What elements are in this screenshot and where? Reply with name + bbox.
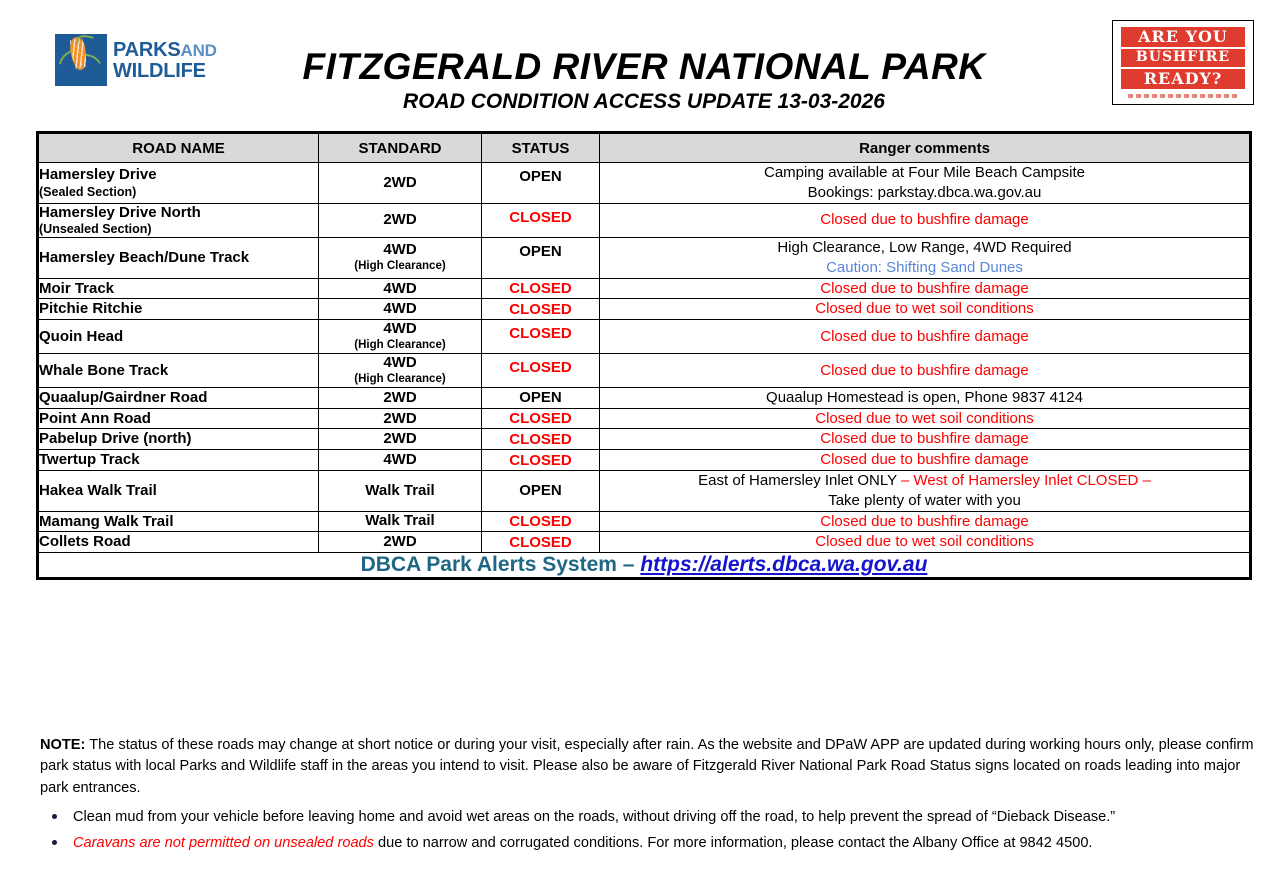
ranger-comment-line: Closed due to bushfire damage	[600, 429, 1249, 449]
cell-ranger-comments: Closed due to wet soil conditions	[600, 408, 1250, 429]
cell-standard: Walk Trail	[319, 511, 482, 532]
table-header: ROAD NAME STANDARD STATUS Ranger comment…	[39, 134, 1250, 163]
cell-ranger-comments: High Clearance, Low Range, 4WD RequiredC…	[600, 238, 1250, 279]
table-row: Quoin Head4WD(High Clearance)CLOSEDClose…	[39, 320, 1250, 354]
logo-wildlife-text: WILDLIFE	[113, 61, 217, 81]
ranger-comment-segment: Closed due to wet soil conditions	[815, 300, 1033, 317]
standard-text: 4WD	[383, 451, 416, 468]
ranger-comment-segment: Closed due to bushfire damage	[820, 328, 1028, 345]
status-badge: OPEN	[482, 238, 600, 279]
ranger-comment-line: Closed due to bushfire damage	[600, 450, 1249, 470]
standard-text: 4WD	[383, 300, 416, 317]
cell-ranger-comments: Closed due to bushfire damage	[600, 354, 1250, 388]
cell-road-name: Whale Bone Track	[39, 354, 319, 388]
road-name-text: Pabelup Drive (north)	[39, 430, 192, 447]
bullet-text: due to narrow and corrugated conditions.…	[374, 835, 1093, 851]
bushfire-line3: READY?	[1121, 69, 1245, 89]
standard-subtext: (High Clearance)	[319, 339, 481, 353]
ranger-comment-segment: Take plenty of water with you	[828, 492, 1021, 509]
table-row: Moir Track4WDCLOSEDClosed due to bushfir…	[39, 278, 1250, 299]
ranger-comment-line: Closed due to wet soil conditions	[600, 532, 1249, 552]
status-badge: OPEN	[482, 163, 600, 204]
cell-road-name: Hamersley Drive North(Unsealed Section)	[39, 203, 319, 237]
park-alerts-label: DBCA Park Alerts System	[361, 553, 617, 576]
road-conditions-table-wrapper: ROAD NAME STANDARD STATUS Ranger comment…	[36, 131, 1252, 580]
status-badge: CLOSED	[482, 354, 600, 388]
ranger-comment-line: Closed due to wet soil conditions	[600, 299, 1249, 319]
cell-standard: 2WD	[319, 387, 482, 408]
note-paragraph: NOTE: The status of these roads may chan…	[40, 735, 1254, 799]
note-label: NOTE:	[40, 737, 85, 753]
road-name-text: Twertup Track	[39, 451, 140, 468]
cell-road-name: Hamersley Drive(Sealed Section)	[39, 163, 319, 204]
column-header-status: STATUS	[482, 134, 600, 163]
road-name-text: Hamersley Beach/Dune Track	[39, 249, 249, 266]
cell-standard: Walk Trail	[319, 471, 482, 512]
table-row: Whale Bone Track4WD(High Clearance)CLOSE…	[39, 354, 1250, 388]
table-row: Hamersley Drive North(Unsealed Section)2…	[39, 203, 1250, 237]
table-row: Quaalup/Gairdner Road2WDOPENQuaalup Home…	[39, 387, 1250, 408]
cell-ranger-comments: Closed due to bushfire damage	[600, 320, 1250, 354]
cell-ranger-comments: Closed due to bushfire damage	[600, 203, 1250, 237]
cell-standard: 4WD	[319, 278, 482, 299]
parks-and-wildlife-logo: PARKSAND WILDLIFE	[55, 34, 217, 86]
cell-road-name: Moir Track	[39, 278, 319, 299]
ranger-comment-line: Quaalup Homestead is open, Phone 9837 41…	[600, 388, 1249, 408]
cell-road-name: Point Ann Road	[39, 408, 319, 429]
cell-ranger-comments: Quaalup Homestead is open, Phone 9837 41…	[600, 387, 1250, 408]
park-alerts-footer: DBCA Park Alerts System – https://alerts…	[39, 553, 1250, 578]
road-name-text: Hakea Walk Trail	[39, 482, 157, 499]
road-name-text: Collets Road	[39, 533, 131, 550]
ranger-comment-line: Closed due to bushfire damage	[600, 327, 1249, 347]
park-alerts-dash: –	[617, 553, 640, 576]
cell-road-name: Collets Road	[39, 532, 319, 553]
cell-standard: 4WD	[319, 450, 482, 471]
bullet-dot-icon	[52, 814, 57, 819]
cell-standard: 2WD	[319, 408, 482, 429]
cell-ranger-comments: Closed due to wet soil conditions	[600, 299, 1250, 320]
standard-text: Walk Trail	[365, 512, 434, 529]
ranger-comment-segment: Quaalup Homestead is open, Phone 9837 41…	[766, 389, 1083, 406]
bushfire-ready-badge: ARE YOU BUSHFIRE READY?	[1112, 20, 1254, 105]
ranger-comment-line: East of Hamersley Inlet ONLY – West of H…	[600, 471, 1249, 491]
status-badge: CLOSED	[482, 511, 600, 532]
cell-standard: 4WD(High Clearance)	[319, 354, 482, 388]
ranger-comment-line: High Clearance, Low Range, 4WD Required	[600, 238, 1249, 258]
cell-road-name: Hamersley Beach/Dune Track	[39, 238, 319, 279]
status-badge: CLOSED	[482, 203, 600, 237]
cell-road-name: Twertup Track	[39, 450, 319, 471]
status-badge: OPEN	[482, 471, 600, 512]
ranger-comment-segment: Caution: Shifting Sand Dunes	[826, 259, 1023, 276]
standard-subtext: (High Clearance)	[319, 373, 481, 387]
table-footer-row: DBCA Park Alerts System – https://alerts…	[39, 553, 1250, 578]
ranger-comment-line: Closed due to bushfire damage	[600, 361, 1249, 381]
standard-text: 2WD	[383, 389, 416, 406]
cell-standard: 4WD	[319, 299, 482, 320]
table-row: Point Ann Road2WDCLOSEDClosed due to wet…	[39, 408, 1250, 429]
ranger-comment-segment: Bookings: parkstay.dbca.wa.gov.au	[808, 184, 1042, 201]
bushfire-line2: BUSHFIRE	[1121, 49, 1245, 67]
standard-text: 2WD	[383, 410, 416, 427]
road-name-text: Mamang Walk Trail	[39, 513, 173, 530]
road-name-text: Hamersley Drive	[39, 166, 157, 183]
ranger-comment-line: Closed due to bushfire damage	[600, 512, 1249, 532]
cell-ranger-comments: East of Hamersley Inlet ONLY – West of H…	[600, 471, 1250, 512]
table-body: Hamersley Drive(Sealed Section)2WDOPENCa…	[39, 163, 1250, 553]
table-row: Mamang Walk TrailWalk TrailCLOSEDClosed …	[39, 511, 1250, 532]
status-badge: CLOSED	[482, 429, 600, 450]
cell-standard: 2WD	[319, 532, 482, 553]
table-row: Collets Road2WDCLOSEDClosed due to wet s…	[39, 532, 1250, 553]
table-row: Pabelup Drive (north)2WDCLOSEDClosed due…	[39, 429, 1250, 450]
ranger-comment-line: Camping available at Four Mile Beach Cam…	[600, 163, 1249, 183]
ranger-comment-segment: Closed due to wet soil conditions	[815, 533, 1033, 550]
ranger-comment-segment: Closed due to wet soil conditions	[815, 410, 1033, 427]
road-conditions-table: ROAD NAME STANDARD STATUS Ranger comment…	[38, 133, 1250, 578]
road-name-text: Moir Track	[39, 280, 114, 297]
status-badge: CLOSED	[482, 278, 600, 299]
status-badge: CLOSED	[482, 299, 600, 320]
cell-standard: 2WD	[319, 429, 482, 450]
cell-ranger-comments: Closed due to wet soil conditions	[600, 532, 1250, 553]
standard-text: Walk Trail	[365, 482, 434, 499]
ranger-comment-segment: East of Hamersley Inlet ONLY	[698, 472, 901, 489]
bullet-emphasis-text: Caravans are not permitted on unsealed r…	[73, 835, 374, 851]
column-header-standard: STANDARD	[319, 134, 482, 163]
ranger-comment-segment: Camping available at Four Mile Beach Cam…	[764, 164, 1085, 181]
page-subtitle: ROAD CONDITION ACCESS UPDATE 13-03-2026	[0, 90, 1288, 114]
ranger-comment-line: Take plenty of water with you	[600, 491, 1249, 511]
standard-text: 4WD	[383, 280, 416, 297]
ranger-comment-line: Closed due to bushfire damage	[600, 279, 1249, 299]
banksia-logo-icon	[55, 34, 107, 86]
ranger-comment-line: Closed due to bushfire damage	[600, 210, 1249, 230]
page-header: PARKSAND WILDLIFE FITZGERALD RIVER NATIO…	[0, 0, 1288, 120]
bullet-dot-icon	[52, 840, 57, 845]
bullet-text: Clean mud from your vehicle before leavi…	[73, 809, 1115, 825]
standard-text: 4WD	[383, 354, 416, 371]
road-name-subtext: (Sealed Section)	[39, 185, 318, 200]
cell-ranger-comments: Closed due to bushfire damage	[600, 429, 1250, 450]
cell-ranger-comments: Closed due to bushfire damage	[600, 450, 1250, 471]
note-text: The status of these roads may change at …	[40, 737, 1254, 796]
ranger-comment-segment: Closed due to bushfire damage	[820, 451, 1028, 468]
status-badge: CLOSED	[482, 320, 600, 354]
logo-parks-text: PARKS	[113, 39, 181, 61]
cell-road-name: Hakea Walk Trail	[39, 471, 319, 512]
road-name-text: Pitchie Ritchie	[39, 300, 142, 317]
column-header-road-name: ROAD NAME	[39, 134, 319, 163]
list-item: Clean mud from your vehicle before leavi…	[40, 807, 1254, 827]
table-row: Hamersley Beach/Dune Track4WD(High Clear…	[39, 238, 1250, 279]
cell-standard: 2WD	[319, 163, 482, 204]
list-item: Caravans are not permitted on unsealed r…	[40, 833, 1254, 853]
table-footer: DBCA Park Alerts System – https://alerts…	[39, 553, 1250, 578]
cell-ranger-comments: Closed due to bushfire damage	[600, 511, 1250, 532]
road-condition-bulletin: PARKSAND WILDLIFE FITZGERALD RIVER NATIO…	[0, 0, 1288, 883]
ranger-comment-segment: – West of Hamersley Inlet CLOSED –	[901, 472, 1151, 489]
ranger-comment-line: Closed due to wet soil conditions	[600, 409, 1249, 429]
status-badge: CLOSED	[482, 450, 600, 471]
road-name-text: Whale Bone Track	[39, 362, 168, 379]
road-name-text: Quoin Head	[39, 328, 123, 345]
status-badge: CLOSED	[482, 408, 600, 429]
cell-road-name: Mamang Walk Trail	[39, 511, 319, 532]
road-name-text: Point Ann Road	[39, 410, 151, 427]
table-header-row: ROAD NAME STANDARD STATUS Ranger comment…	[39, 134, 1250, 163]
ranger-comment-line: Caution: Shifting Sand Dunes	[600, 258, 1249, 278]
cell-standard: 4WD(High Clearance)	[319, 238, 482, 279]
status-badge: OPEN	[482, 387, 600, 408]
bushfire-fineprint	[1128, 94, 1237, 98]
ranger-comment-segment: Closed due to bushfire damage	[820, 280, 1028, 297]
standard-subtext: (High Clearance)	[319, 260, 481, 274]
ranger-comment-segment: Closed due to bushfire damage	[820, 362, 1028, 379]
standard-text: 2WD	[383, 174, 416, 191]
table-row: Twertup Track4WDCLOSEDClosed due to bush…	[39, 450, 1250, 471]
cell-road-name: Quaalup/Gairdner Road	[39, 387, 319, 408]
table-row: Pitchie Ritchie4WDCLOSEDClosed due to we…	[39, 299, 1250, 320]
notes-bullet-list: Clean mud from your vehicle before leavi…	[40, 807, 1254, 854]
ranger-comment-segment: Closed due to bushfire damage	[820, 513, 1028, 530]
road-name-text: Hamersley Drive North	[39, 204, 201, 221]
ranger-comment-segment: Closed due to bushfire damage	[820, 211, 1028, 228]
cell-ranger-comments: Closed due to bushfire damage	[600, 278, 1250, 299]
standard-text: 4WD	[383, 241, 416, 258]
cell-standard: 2WD	[319, 203, 482, 237]
standard-text: 2WD	[383, 533, 416, 550]
park-alerts-link[interactable]: https://alerts.dbca.wa.gov.au	[640, 553, 927, 576]
cell-road-name: Pitchie Ritchie	[39, 299, 319, 320]
standard-text: 2WD	[383, 211, 416, 228]
road-name-subtext: (Unsealed Section)	[39, 222, 318, 237]
cell-ranger-comments: Camping available at Four Mile Beach Cam…	[600, 163, 1250, 204]
bushfire-line1: ARE YOU	[1121, 27, 1245, 47]
logo-and-text: AND	[181, 41, 217, 60]
standard-text: 2WD	[383, 430, 416, 447]
ranger-comment-line: Bookings: parkstay.dbca.wa.gov.au	[600, 183, 1249, 203]
notes-section: NOTE: The status of these roads may chan…	[40, 735, 1254, 854]
standard-text: 4WD	[383, 320, 416, 337]
column-header-ranger-comments: Ranger comments	[600, 134, 1250, 163]
status-badge: CLOSED	[482, 532, 600, 553]
ranger-comment-segment: Closed due to bushfire damage	[820, 430, 1028, 447]
road-name-text: Quaalup/Gairdner Road	[39, 389, 207, 406]
cell-road-name: Pabelup Drive (north)	[39, 429, 319, 450]
logo-wordmark: PARKSAND WILDLIFE	[113, 40, 217, 81]
cell-road-name: Quoin Head	[39, 320, 319, 354]
table-row: Hakea Walk TrailWalk TrailOPENEast of Ha…	[39, 471, 1250, 512]
cell-standard: 4WD(High Clearance)	[319, 320, 482, 354]
table-row: Hamersley Drive(Sealed Section)2WDOPENCa…	[39, 163, 1250, 204]
ranger-comment-segment: High Clearance, Low Range, 4WD Required	[777, 239, 1071, 256]
